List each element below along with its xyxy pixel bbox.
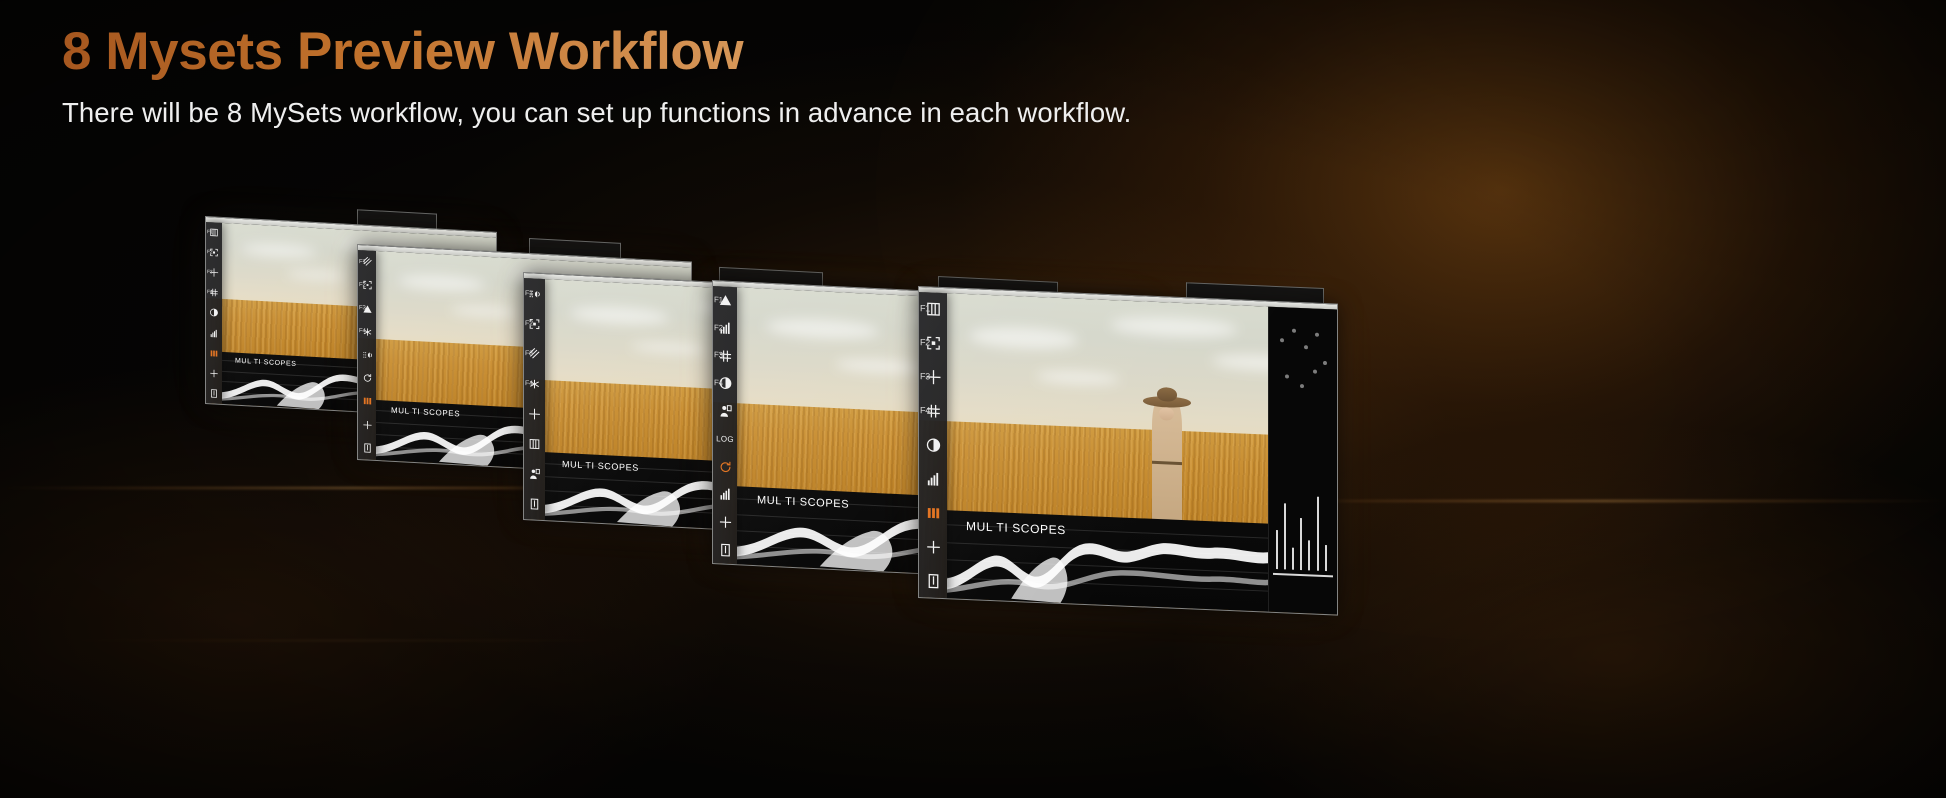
rotate-icon (718, 459, 733, 475)
vectorscope-dot (1300, 384, 1304, 388)
split-view-icon (528, 437, 541, 451)
sidebar-item-zebra[interactable]: F1 (358, 250, 376, 274)
sidebar-item-user-lut[interactable] (713, 397, 737, 426)
sidebar-item-grid[interactable]: F4 (206, 282, 222, 303)
sidebar-item-plus[interactable] (713, 508, 737, 537)
contrast-icon (925, 436, 942, 454)
sidebar-item-false-color[interactable]: F2 (358, 273, 376, 297)
sidebar-item-grid[interactable]: F3 (713, 341, 737, 370)
function-sidebar[interactable]: F1F2F3F4 (919, 292, 947, 598)
histogram-icon (209, 328, 219, 339)
user-lut-icon (528, 468, 541, 482)
sidebar-item-user-lut[interactable] (524, 459, 545, 490)
vectorscope-dot (1280, 338, 1284, 342)
histogram-baseline (1273, 573, 1333, 578)
plus-icon (209, 368, 219, 379)
sidebar-item-info[interactable] (713, 535, 737, 564)
sidebar-function-key-label: F2 (207, 250, 212, 255)
function-sidebar[interactable]: F1F2F3F4LOG (713, 286, 737, 564)
sidebar-item-focus-frame[interactable]: F2 (206, 242, 222, 263)
sidebar-item-plus[interactable] (206, 363, 222, 384)
sidebar-function-key-label: F4 (920, 406, 930, 415)
histogram-bar (1308, 540, 1310, 571)
page-subtitle: There will be 8 MySets workflow, you can… (62, 97, 1131, 129)
function-sidebar[interactable]: F1F2F3F4 (206, 222, 222, 404)
sidebar-function-key-label: F3 (525, 350, 533, 357)
vectorscope-dot (1313, 370, 1317, 374)
sidebar-function-key-label: F1 (920, 305, 930, 314)
sidebar-item-audio-meter[interactable] (358, 343, 376, 367)
sidebar-function-key-label: F3 (714, 351, 723, 359)
sidebar-function-key-label: F4 (525, 380, 533, 387)
sidebar-item-info[interactable] (524, 489, 545, 520)
multi-scopes-strip[interactable]: MUL TI SCOPES (947, 510, 1268, 611)
sidebar-item-multi-scopes[interactable] (206, 343, 222, 364)
sidebar-item-center-marker[interactable]: F3 (919, 360, 947, 395)
sidebar-item-contrast[interactable] (919, 428, 947, 463)
info-icon (718, 542, 733, 558)
histogram-icon (718, 487, 733, 503)
page-title: 8 Mysets Preview Workflow (62, 22, 1131, 83)
sidebar-function-key-label: F3 (207, 270, 212, 275)
sidebar-function-key-label: F1 (207, 230, 212, 235)
sidebar-function-key-label: F4 (207, 290, 212, 295)
camera-monitor-5[interactable]: MUL TI SCOPESF1F2F3F4 (918, 286, 1338, 616)
histogram-bar (1300, 518, 1302, 571)
sidebar-item-multi-scopes[interactable] (358, 389, 376, 413)
vectorscope-dot (1315, 333, 1319, 337)
info-icon (209, 388, 219, 399)
sidebar-function-key-label: F1 (359, 259, 366, 265)
sidebar-item-split-view[interactable]: F1 (919, 292, 947, 327)
sidebar-item-info[interactable] (206, 383, 222, 404)
function-sidebar[interactable]: F1F2F3F4 (358, 250, 376, 460)
page-header: 8 Mysets Preview Workflow There will be … (62, 22, 1131, 129)
sidebar-item-split-view[interactable] (524, 429, 545, 460)
histogram-bar (1325, 545, 1327, 571)
sidebar-function-key-label: F4 (714, 379, 723, 387)
sidebar-item-histogram[interactable]: F2 (713, 314, 737, 343)
sidebar-item-focus-frame[interactable]: F2 (919, 326, 947, 361)
sidebar-function-key-label: F2 (714, 324, 723, 332)
sidebar-item-log[interactable]: LOG (713, 425, 737, 454)
sidebar-item-histogram[interactable] (919, 461, 947, 496)
sidebar-item-info[interactable] (919, 563, 947, 598)
sidebar-function-key-label: F2 (920, 338, 930, 347)
info-icon (528, 498, 541, 512)
sidebar-function-key-label: F4 (359, 328, 366, 334)
sidebar-item-histogram[interactable] (713, 480, 737, 509)
sidebar-item-contrast[interactable] (206, 302, 222, 323)
sidebar-function-key-label: F1 (525, 290, 533, 297)
sidebar-item-audio-meter[interactable]: F1 (524, 278, 545, 309)
sidebar-function-key-label: F3 (920, 372, 930, 381)
plus-icon (362, 419, 373, 431)
function-sidebar[interactable]: F1F2F3F4 (524, 278, 545, 520)
info-icon (925, 572, 942, 590)
center-marker-icon (528, 407, 541, 421)
contrast-icon (209, 308, 219, 319)
plus-icon (925, 538, 942, 556)
sidebar-item-split-view[interactable]: F1 (206, 222, 222, 243)
sidebar-item-contrast[interactable]: F4 (713, 369, 737, 398)
multi-scopes-icon (925, 504, 942, 522)
sidebar-item-plus[interactable] (358, 413, 376, 437)
rotate-icon (362, 372, 373, 384)
multi-scopes-icon (209, 348, 219, 359)
histogram-panel[interactable] (1268, 307, 1337, 615)
sidebar-function-key-label: F3 (359, 305, 366, 311)
sidebar-item-anamorphic[interactable]: F4 (358, 320, 376, 344)
sidebar-item-peaking[interactable]: F3 (358, 296, 376, 320)
sidebar-item-focus-frame[interactable]: F2 (524, 308, 545, 339)
sidebar-item-center-marker[interactable]: F3 (206, 262, 222, 283)
info-icon (362, 442, 373, 454)
sidebar-item-anamorphic[interactable]: F4 (524, 368, 545, 399)
audio-meter-icon (362, 349, 373, 361)
sidebar-item-rotate[interactable] (358, 366, 376, 390)
subject-hat (1157, 387, 1177, 402)
sidebar-item-multi-scopes[interactable] (919, 495, 947, 530)
plus-icon (718, 514, 733, 530)
sidebar-item-histogram[interactable] (206, 323, 222, 344)
sidebar-item-center-marker[interactable] (524, 399, 545, 430)
histogram-icon (925, 470, 942, 488)
sidebar-item-info[interactable] (358, 436, 376, 460)
sidebar-item-peaking[interactable]: F1 (713, 286, 737, 315)
histogram-bar (1276, 530, 1278, 570)
vectorscope-dot (1323, 361, 1327, 365)
sidebar-item-grid[interactable]: F4 (919, 394, 947, 429)
user-lut-icon (718, 403, 733, 419)
vectorscope-dot (1292, 329, 1296, 333)
sidebar-function-key-label: F1 (714, 296, 723, 304)
histogram-bar (1284, 504, 1286, 570)
sidebar-item-zebra[interactable]: F3 (524, 338, 545, 369)
sidebar-item-plus[interactable] (919, 529, 947, 564)
multi-scopes-icon (362, 396, 373, 408)
device-screen[interactable]: MUL TI SCOPESF1F2F3F4 (918, 286, 1338, 616)
histogram-bar (1317, 496, 1319, 571)
histogram-bar (1292, 548, 1294, 570)
subject-face (1159, 407, 1175, 421)
sidebar-item-rotate[interactable] (713, 452, 737, 481)
vectorscope-dot (1304, 345, 1308, 349)
vectorscope-dot (1285, 374, 1289, 378)
sidebar-function-key-label: F2 (359, 282, 366, 288)
sidebar-function-key-label: F2 (525, 320, 533, 327)
log-icon: LOG (716, 434, 734, 444)
